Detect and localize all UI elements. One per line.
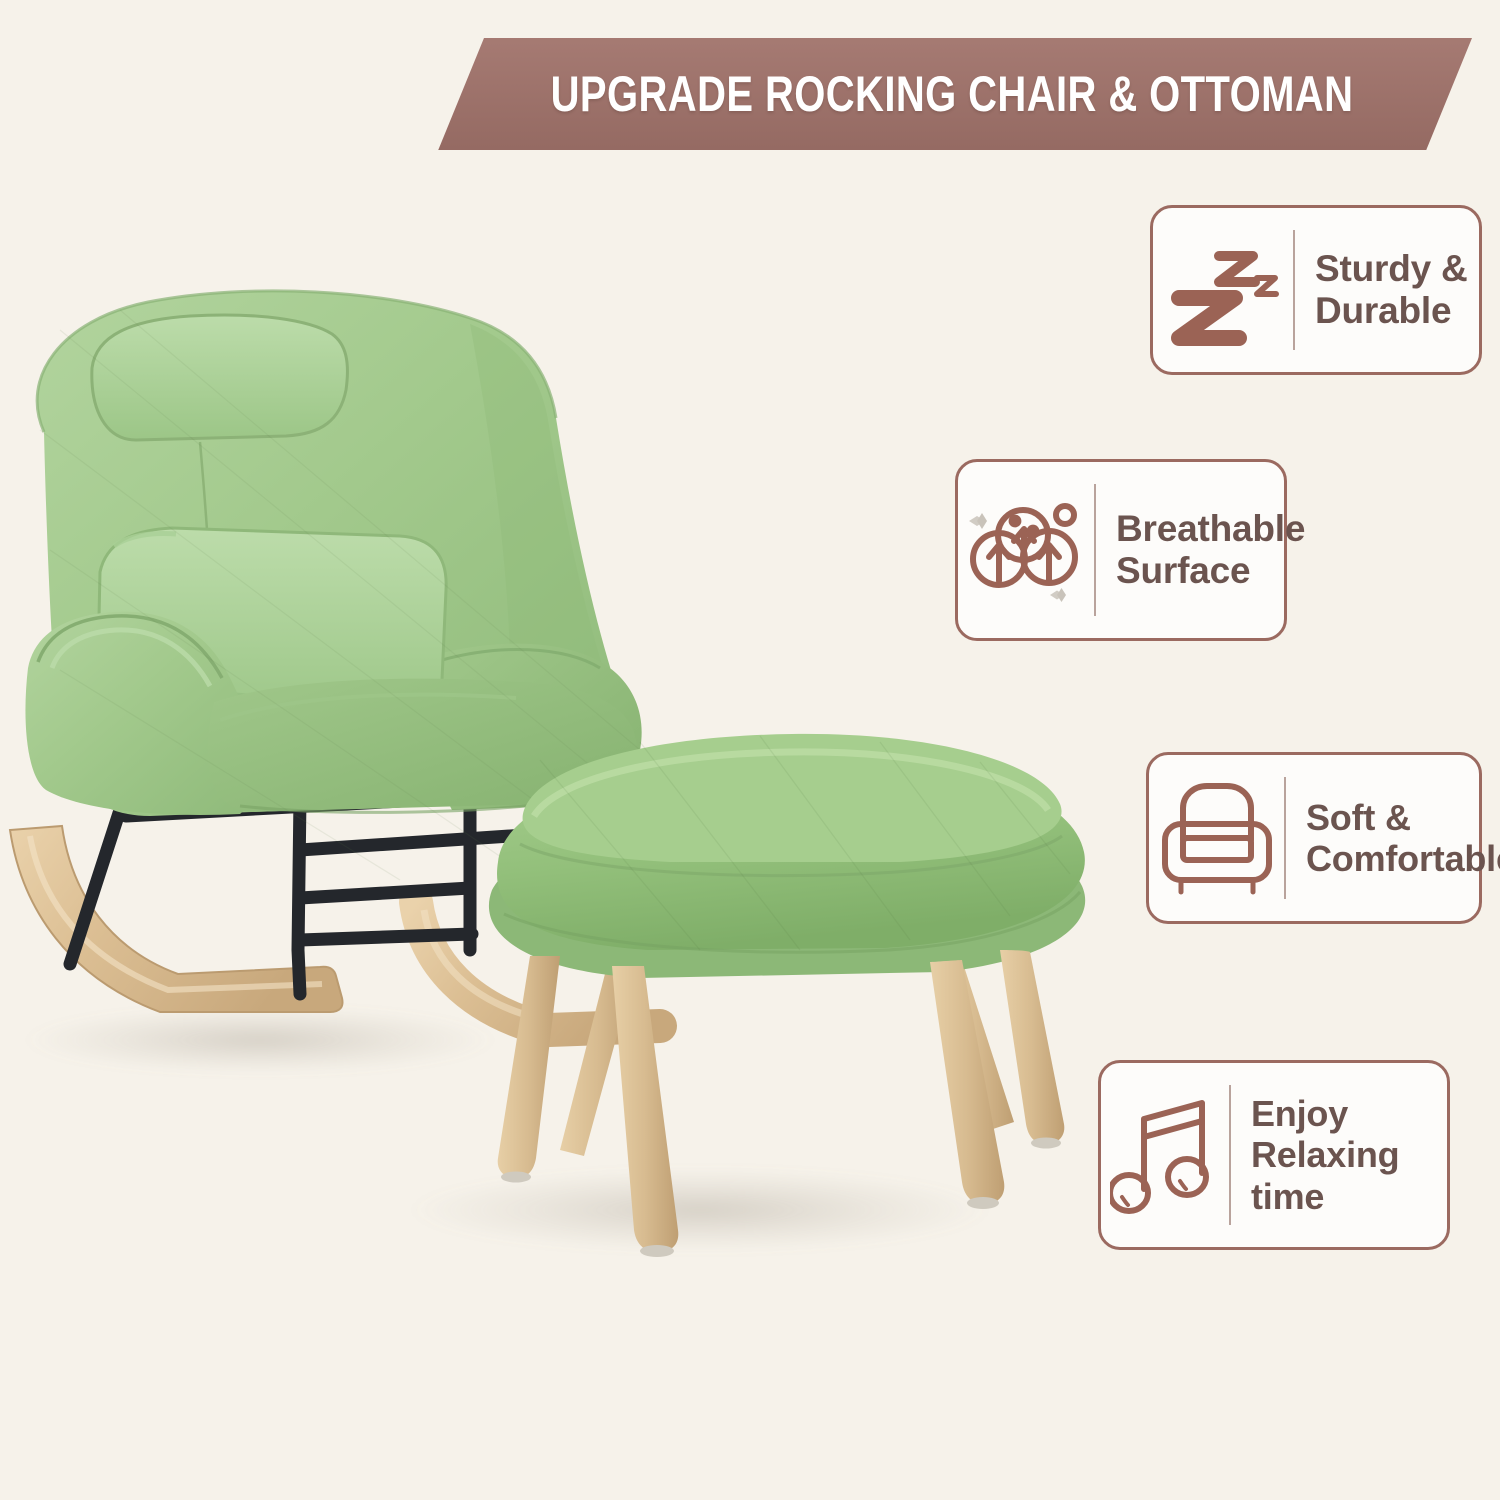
- infographic-canvas: UPGRADE ROCKING CHAIR & OTTOMAN Sturdy &…: [0, 0, 1500, 1500]
- feature-card-enjoy-relaxing-time[interactable]: Enjoy Relaxing time: [1098, 1060, 1450, 1250]
- ottoman-foot-pad-left: [640, 1245, 674, 1257]
- feature-label-sturdy-durable: Sturdy & Durable: [1295, 248, 1479, 332]
- music-note-icon: [1101, 1093, 1229, 1217]
- feature-card-soft-comfortable[interactable]: Soft & Comfortable: [1146, 752, 1482, 924]
- feature-card-sturdy-durable[interactable]: Sturdy & Durable: [1150, 205, 1482, 375]
- sleep-zzz-icon: [1153, 230, 1293, 350]
- header-banner: UPGRADE ROCKING CHAIR & OTTOMAN: [432, 38, 1472, 150]
- ottoman-foot-pad-right: [967, 1197, 999, 1209]
- page-title: UPGRADE ROCKING CHAIR & OTTOMAN: [536, 38, 1368, 150]
- ottoman-foot-pad-outer-right: [1031, 1138, 1061, 1149]
- chair-headrest: [92, 315, 348, 440]
- chair-floor-shadow: [25, 1006, 495, 1074]
- feature-label-breathable-surface: Breathable Surface: [1096, 508, 1305, 592]
- product-illustration: [0, 250, 1120, 1300]
- feature-label-soft-comfortable: Soft & Comfortable: [1286, 797, 1500, 879]
- product-photo: [0, 250, 1120, 1300]
- feature-card-breathable-surface[interactable]: Breathable Surface: [955, 459, 1287, 641]
- breathable-cotton-airflow-icon: [958, 491, 1094, 609]
- ottoman-foot-pad-outer-left: [501, 1172, 531, 1183]
- ottoman-floor-shadow: [410, 1168, 990, 1252]
- armchair-icon: [1149, 778, 1284, 898]
- feature-label-enjoy-relaxing-time: Enjoy Relaxing time: [1231, 1093, 1447, 1216]
- ottoman-leg-left-outer: [498, 956, 560, 1178]
